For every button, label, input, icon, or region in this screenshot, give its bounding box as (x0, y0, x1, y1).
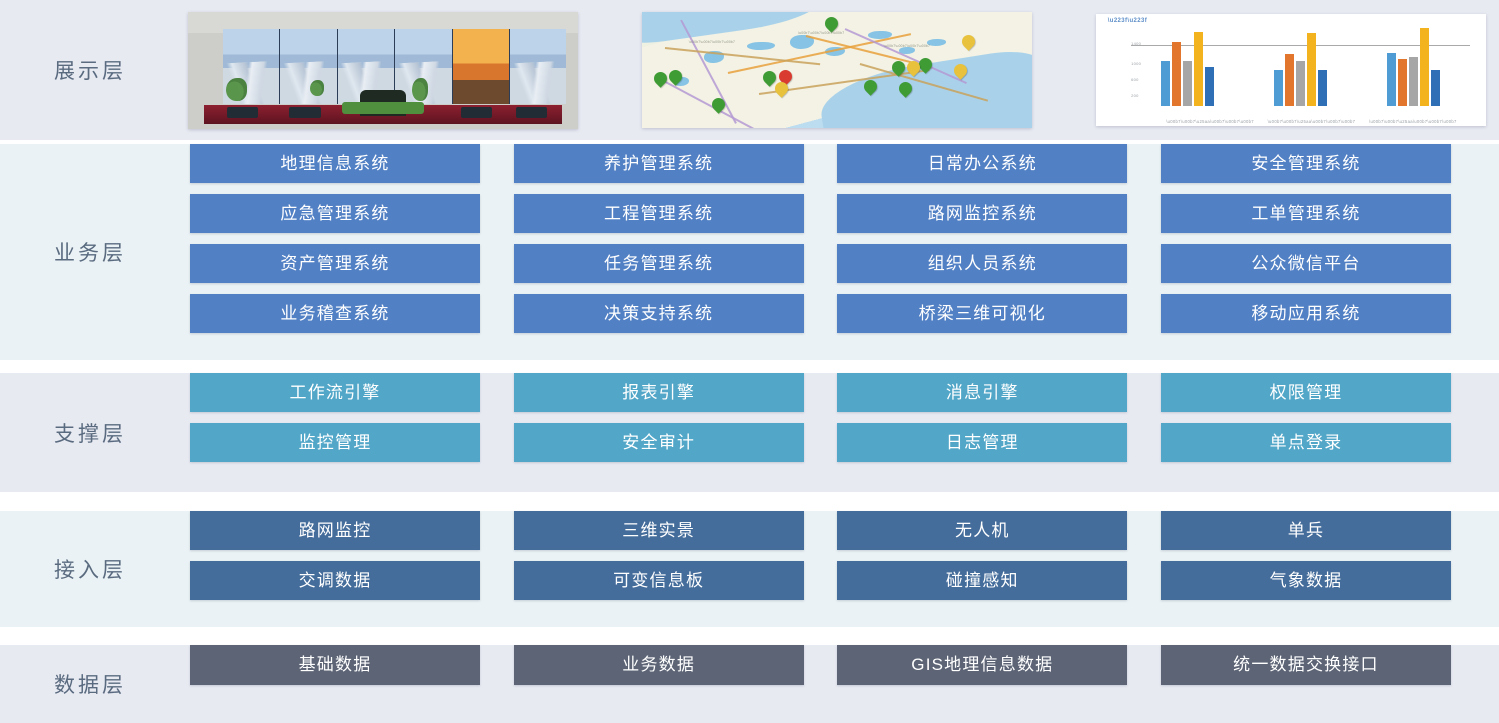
chart-bar (1398, 59, 1407, 106)
control-room-video-wall-image (188, 12, 578, 129)
support-column-1: 工作流引擎 监控管理 (190, 373, 480, 462)
grouped-bar-statistics-chart-image: \u223f\u223f 1400 1000 600 200 \u00b7\u0… (1096, 14, 1486, 126)
layer-band-support: 支撑层 工作流引擎 监控管理 报表引擎 安全审计 消息引擎 日志管理 权限管理 … (0, 373, 1499, 492)
data-column-3: GIS地理信息数据 (837, 645, 1127, 685)
chart-bar (1409, 57, 1418, 105)
business-card[interactable]: 桥梁三维可视化 (837, 294, 1127, 333)
chart-bar (1285, 54, 1294, 106)
business-card[interactable]: 安全管理系统 (1161, 144, 1451, 183)
business-column-2: 养护管理系统 工程管理系统 任务管理系统 决策支持系统 (514, 144, 804, 333)
chart-bar (1420, 28, 1429, 106)
chart-bar-group (1161, 25, 1214, 106)
layer-label-access: 接入层 (0, 554, 180, 584)
data-cards-area: 基础数据 业务数据 GIS地理信息数据 统一数据交换接口 (180, 645, 1499, 723)
access-card[interactable]: 单兵 (1161, 511, 1451, 550)
data-column-1: 基础数据 (190, 645, 480, 685)
chart-bar (1183, 61, 1192, 106)
support-column-3: 消息引擎 日志管理 (837, 373, 1127, 462)
business-card[interactable]: 移动应用系统 (1161, 294, 1451, 333)
access-card[interactable]: 可变信息板 (514, 561, 804, 600)
chart-bar-group (1387, 25, 1440, 106)
business-card[interactable]: 决策支持系统 (514, 294, 804, 333)
support-column-4: 权限管理 单点登录 (1161, 373, 1451, 462)
layer-band-presentation: 展示层 (0, 0, 1499, 140)
business-card[interactable]: 任务管理系统 (514, 244, 804, 283)
layer-label-business: 业务层 (0, 237, 180, 267)
access-column-4: 单兵 气象数据 (1161, 511, 1451, 600)
chart-logo: \u223f\u223f (1108, 18, 1147, 24)
chart-bar (1307, 33, 1316, 106)
layer-label-data: 数据层 (0, 669, 180, 699)
business-card[interactable]: 工单管理系统 (1161, 194, 1451, 233)
business-card[interactable]: 工程管理系统 (514, 194, 804, 233)
chart-bar (1387, 53, 1396, 106)
data-card[interactable]: 基础数据 (190, 645, 480, 685)
access-card[interactable]: 气象数据 (1161, 561, 1451, 600)
access-cards-area: 路网监控 交调数据 三维实景 可变信息板 无人机 碰撞感知 单兵 气象数据 (180, 511, 1499, 627)
support-card[interactable]: 工作流引擎 (190, 373, 480, 412)
chart-plot-area: 1400 1000 600 200 (1131, 25, 1470, 106)
chart-bar (1274, 70, 1283, 106)
chart-bar (1194, 32, 1203, 106)
access-column-2: 三维实景 可变信息板 (514, 511, 804, 600)
support-card[interactable]: 安全审计 (514, 423, 804, 462)
business-card[interactable]: 组织人员系统 (837, 244, 1127, 283)
gis-road-network-map-image: \u00b7\u00b7\u00b7\u00b7 \u00b7\u00b7\u0… (642, 12, 1032, 128)
data-column-2: 业务数据 (514, 645, 804, 685)
support-card[interactable]: 监控管理 (190, 423, 480, 462)
business-column-4: 安全管理系统 工单管理系统 公众微信平台 移动应用系统 (1161, 144, 1451, 333)
access-card[interactable]: 无人机 (837, 511, 1127, 550)
access-card[interactable]: 三维实景 (514, 511, 804, 550)
business-column-1: 地理信息系统 应急管理系统 资产管理系统 业务稽查系统 (190, 144, 480, 333)
access-card[interactable]: 路网监控 (190, 511, 480, 550)
data-card[interactable]: 业务数据 (514, 645, 804, 685)
layer-label-presentation: 展示层 (0, 55, 180, 85)
layer-band-business: 业务层 地理信息系统 应急管理系统 资产管理系统 业务稽查系统 养护管理系统 工… (0, 144, 1499, 360)
support-column-2: 报表引擎 安全审计 (514, 373, 804, 462)
chart-bar (1161, 61, 1170, 105)
business-card[interactable]: 日常办公系统 (837, 144, 1127, 183)
business-card[interactable]: 资产管理系统 (190, 244, 480, 283)
data-card[interactable]: 统一数据交换接口 (1161, 645, 1451, 685)
chart-bar (1296, 61, 1305, 105)
support-card[interactable]: 消息引擎 (837, 373, 1127, 412)
layer-band-access: 接入层 路网监控 交调数据 三维实景 可变信息板 无人机 碰撞感知 单兵 气象数… (0, 511, 1499, 627)
presentation-images-area: \u00b7\u00b7\u00b7\u00b7 \u00b7\u00b7\u0… (180, 0, 1499, 140)
business-card[interactable]: 路网监控系统 (837, 194, 1127, 233)
layer-band-data: 数据层 基础数据 业务数据 GIS地理信息数据 统一数据交换接口 (0, 645, 1499, 723)
data-column-4: 统一数据交换接口 (1161, 645, 1451, 685)
access-column-1: 路网监控 交调数据 (190, 511, 480, 600)
support-cards-area: 工作流引擎 监控管理 报表引擎 安全审计 消息引擎 日志管理 权限管理 单点登录 (180, 373, 1499, 492)
business-card[interactable]: 应急管理系统 (190, 194, 480, 233)
data-card[interactable]: GIS地理信息数据 (837, 645, 1127, 685)
chart-bar (1318, 70, 1327, 105)
access-column-3: 无人机 碰撞感知 (837, 511, 1127, 600)
support-card[interactable]: 权限管理 (1161, 373, 1451, 412)
chart-bar (1431, 70, 1440, 105)
business-card[interactable]: 业务稽查系统 (190, 294, 480, 333)
support-card[interactable]: 报表引擎 (514, 373, 804, 412)
access-card[interactable]: 交调数据 (190, 561, 480, 600)
access-card[interactable]: 碰撞感知 (837, 561, 1127, 600)
support-card[interactable]: 单点登录 (1161, 423, 1451, 462)
business-column-3: 日常办公系统 路网监控系统 组织人员系统 桥梁三维可视化 (837, 144, 1127, 333)
chart-bar (1205, 67, 1214, 106)
business-card[interactable]: 地理信息系统 (190, 144, 480, 183)
business-cards-area: 地理信息系统 应急管理系统 资产管理系统 业务稽查系统 养护管理系统 工程管理系… (180, 144, 1499, 360)
support-card[interactable]: 日志管理 (837, 423, 1127, 462)
layer-label-support: 支撑层 (0, 418, 180, 448)
business-card[interactable]: 养护管理系统 (514, 144, 804, 183)
chart-bar (1172, 42, 1181, 106)
chart-bar-group (1274, 25, 1327, 106)
business-card[interactable]: 公众微信平台 (1161, 244, 1451, 283)
architecture-diagram: 展示层 (0, 0, 1499, 723)
